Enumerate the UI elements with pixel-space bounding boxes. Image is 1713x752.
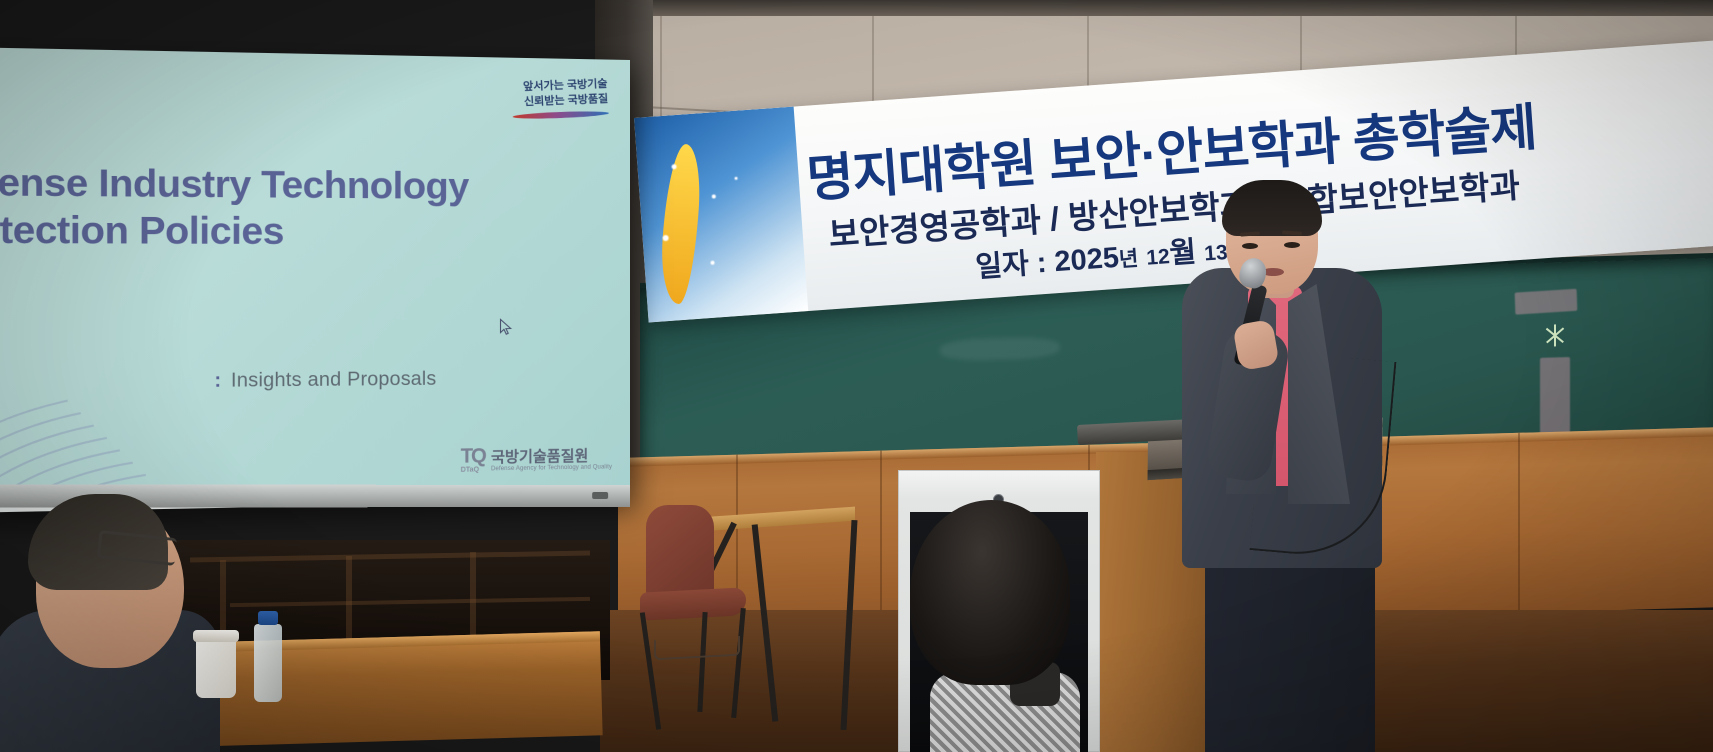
slide-subtitle-colon: : <box>214 370 221 392</box>
stage-chair-seat <box>640 587 746 621</box>
date-month: 12 <box>1146 245 1171 270</box>
date-year: 2025 <box>1053 242 1120 279</box>
presentation-slide: Defense Industry Technology Protection P… <box>0 47 630 497</box>
slide-subtitle-text: Insights and Proposals <box>231 368 436 391</box>
dtaq-logo-names: 국방기술품질원 Defense Agency for Technology an… <box>491 448 612 473</box>
date-year-suffix: 년 <box>1118 247 1139 271</box>
slide-title-line2: Protection Policies <box>0 206 628 255</box>
projection-screen: Defense Industry Technology Protection P… <box>0 47 630 513</box>
dtaq-slogan-logo: 앞서가는 국방기술 신뢰받는 국방품질 <box>511 77 609 119</box>
dtaq-logo: TQ DTaQ 국방기술품질원 Defense Agency for Techn… <box>461 444 613 474</box>
date-month-suffix: 월 <box>1168 236 1197 270</box>
dtaq-slogan-line2: 신뢰받는 국방품질 <box>511 92 608 110</box>
speaker-eye-right <box>1284 242 1300 248</box>
dtaq-mark-subtext: DTaQ <box>461 466 485 473</box>
attendee-center-head <box>910 500 1070 685</box>
dtaq-name-english: Defense Agency for Technology and Qualit… <box>491 465 612 474</box>
swoosh-icon <box>512 110 609 120</box>
coffee-cup <box>196 636 236 698</box>
lecture-hall-scene: 명지대학원 보안·안보학과 총학술제 보안경영공학과 / 방산안보학과 / 융합… <box>0 0 1713 752</box>
dtaq-mark-text: TQ <box>461 445 485 468</box>
speaker-eye-left <box>1242 243 1258 249</box>
slide-subtitle: :Insights and Proposals <box>214 368 436 392</box>
slide-title-line1: Defense Industry Technology <box>0 158 628 210</box>
dtaq-name-korean: 국방기술품질원 <box>491 448 612 466</box>
slide-title: Defense Industry Technology Protection P… <box>0 158 628 255</box>
date-label: 일자 : <box>974 247 1047 284</box>
stage-chair-back <box>646 505 714 601</box>
slide-wave-decoration <box>0 275 251 497</box>
date-day: 13 <box>1204 241 1229 266</box>
ceiling-edge <box>600 0 1713 16</box>
dtaq-mark-icon: TQ DTaQ <box>461 446 485 474</box>
mouse-cursor-icon[interactable] <box>499 318 512 335</box>
banner-graphic <box>634 107 808 323</box>
screen-brand-tag <box>592 492 608 499</box>
water-bottle <box>254 624 282 702</box>
